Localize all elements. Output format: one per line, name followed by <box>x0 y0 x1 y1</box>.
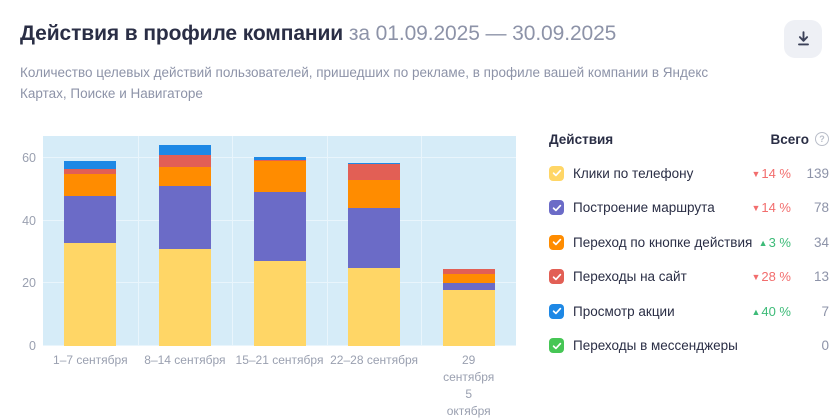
bar-stack[interactable] <box>348 163 400 346</box>
trend-arrow-icon: ▼ <box>751 272 760 282</box>
x-axis-labels: 1–7 сентября8–14 сентября15–21 сентября2… <box>43 352 516 402</box>
bar-segment[interactable] <box>254 161 306 192</box>
check-icon <box>552 341 562 351</box>
bar-segment[interactable] <box>64 174 116 196</box>
bar-segment[interactable] <box>348 164 400 180</box>
legend-row-delta: ▲3 % <box>759 235 791 250</box>
legend-row[interactable]: Переходы на сайт▼28 %13 <box>549 266 829 288</box>
gridline-vertical <box>421 136 422 346</box>
legend-row-total: 34 <box>799 235 829 250</box>
x-axis-tick-label: 15–21 сентября <box>236 352 324 369</box>
legend-row[interactable]: Построение маршрута▼14 %78 <box>549 197 829 219</box>
bar-segment[interactable] <box>254 157 306 160</box>
gridline-vertical <box>138 136 139 346</box>
y-axis-tick-label: 40 <box>22 214 36 228</box>
legend-row-label: Переходы в мессенджеры <box>573 338 791 353</box>
check-icon <box>552 306 562 316</box>
legend-row-list: Клики по телефону▼14 %139Построение марш… <box>549 162 829 357</box>
download-icon <box>796 31 811 47</box>
legend-row[interactable]: Переходы в мессенджеры0 <box>549 335 829 357</box>
bar-stack[interactable] <box>254 157 306 346</box>
bar-segment[interactable] <box>159 186 211 249</box>
x-axis-tick-label: 29 сентября 5 октября <box>443 352 494 420</box>
legend-checkbox[interactable] <box>549 200 564 215</box>
x-axis-tick-label: 22–28 сентября <box>330 352 418 369</box>
bar-segment[interactable] <box>159 145 211 154</box>
trend-arrow-icon: ▼ <box>751 169 760 179</box>
gridline-vertical <box>327 136 328 346</box>
page-title: Действия в профиле компании за 01.09.202… <box>20 22 616 46</box>
bar-stack[interactable] <box>443 269 495 346</box>
page-subtitle: Количество целевых действий пользователе… <box>20 62 710 104</box>
legend-row-delta: ▲40 % <box>751 304 791 319</box>
check-icon <box>552 237 562 247</box>
legend-row-label: Просмотр акции <box>573 304 751 319</box>
legend-checkbox[interactable] <box>549 166 564 181</box>
bar-segment[interactable] <box>64 196 116 243</box>
legend-row[interactable]: Переход по кнопке действия▲3 %34 <box>549 231 829 253</box>
legend-checkbox[interactable] <box>549 338 564 353</box>
y-axis-tick-label: 0 <box>29 339 36 353</box>
x-axis-tick-label: 8–14 сентября <box>144 352 225 369</box>
bar-segment[interactable] <box>443 290 495 346</box>
legend-row-delta: ▼14 % <box>751 200 791 215</box>
bar-segment[interactable] <box>443 283 495 289</box>
y-axis-tick-label: 20 <box>22 276 36 290</box>
page-title-main: Действия в профиле компании <box>20 22 343 45</box>
legend-row[interactable]: Клики по телефону▼14 %139 <box>549 162 829 184</box>
check-icon <box>552 168 562 178</box>
bar-segment[interactable] <box>348 208 400 268</box>
download-button[interactable] <box>784 20 822 58</box>
legend-checkbox[interactable] <box>549 235 564 250</box>
bar-stack[interactable] <box>159 145 211 346</box>
legend-row-total: 78 <box>799 200 829 215</box>
bar-segment[interactable] <box>254 160 306 162</box>
legend-header: Действия Всего ? <box>549 128 829 150</box>
bar-segment[interactable] <box>64 161 116 169</box>
legend-checkbox[interactable] <box>549 269 564 284</box>
bar-segment[interactable] <box>348 180 400 208</box>
bar-segment[interactable] <box>443 269 495 274</box>
question-mark-icon[interactable]: ? <box>815 132 829 146</box>
legend-header-actions: Действия <box>549 132 771 147</box>
bar-segment[interactable] <box>159 167 211 186</box>
check-icon <box>552 272 562 282</box>
legend-row-delta: ▼14 % <box>751 166 791 181</box>
legend-row-total: 0 <box>799 338 829 353</box>
bar-segment[interactable] <box>348 268 400 346</box>
legend-row-total: 7 <box>799 304 829 319</box>
bar-segment[interactable] <box>254 192 306 261</box>
bar-segment[interactable] <box>254 261 306 346</box>
legend-row-total: 139 <box>799 166 829 181</box>
legend-row-label: Клики по телефону <box>573 166 751 181</box>
bar-segment[interactable] <box>159 249 211 346</box>
trend-arrow-icon: ▲ <box>759 238 768 248</box>
bar-segment[interactable] <box>443 274 495 283</box>
y-axis-labels: 0204060 <box>0 136 36 346</box>
bar-segment[interactable] <box>159 155 211 168</box>
y-axis-tick-label: 60 <box>22 151 36 165</box>
legend-checkbox[interactable] <box>549 304 564 319</box>
trend-arrow-icon: ▲ <box>751 307 760 317</box>
x-axis-tick-label: 1–7 сентября <box>53 352 128 369</box>
legend-row-total: 13 <box>799 269 829 284</box>
page-title-period: за 01.09.2025 — 30.09.2025 <box>343 22 616 45</box>
chart-legend: Действия Всего ? Клики по телефону▼14 %1… <box>549 128 829 369</box>
bar-segment[interactable] <box>348 163 400 165</box>
gridline-vertical <box>232 136 233 346</box>
chart-plot-area <box>43 136 516 346</box>
legend-row[interactable]: Просмотр акции▲40 %7 <box>549 300 829 322</box>
bar-stack[interactable] <box>64 161 116 346</box>
legend-row-label: Переход по кнопке действия <box>573 235 759 250</box>
check-icon <box>552 203 562 213</box>
bar-segment[interactable] <box>64 243 116 346</box>
legend-row-label: Построение маршрута <box>573 200 751 215</box>
bar-segment[interactable] <box>64 169 116 174</box>
trend-arrow-icon: ▼ <box>751 203 760 213</box>
legend-header-total: Всего <box>771 132 809 147</box>
legend-row-label: Переходы на сайт <box>573 269 751 284</box>
legend-row-delta: ▼28 % <box>751 269 791 284</box>
